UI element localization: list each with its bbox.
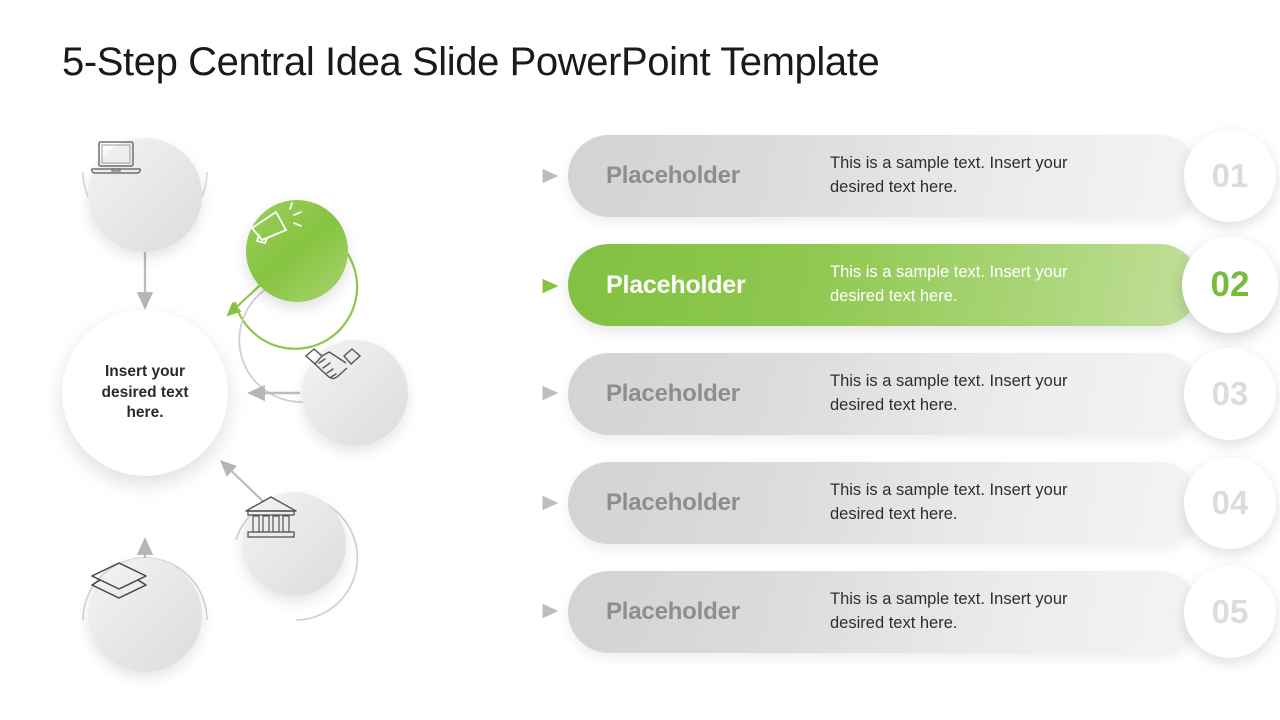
diagram-node-handshake[interactable]	[302, 340, 408, 446]
step-bar[interactable]: Placeholder This is a sample text. Inser…	[568, 353, 1200, 435]
step-row-03[interactable]: Placeholder This is a sample text. Inser…	[568, 353, 1228, 435]
step-description: This is a sample text. Insert your desir…	[830, 479, 1120, 527]
center-node[interactable]: Insert your desired text here.	[62, 310, 228, 476]
center-node-text: Insert your desired text here.	[85, 362, 205, 425]
page-title: 5-Step Central Idea Slide PowerPoint Tem…	[62, 40, 879, 85]
diagram-node-laptop[interactable]	[88, 138, 202, 252]
step-number-badge: 05	[1184, 566, 1276, 658]
step-description: This is a sample text. Insert your desir…	[830, 261, 1120, 309]
step-label: Placeholder	[606, 271, 746, 300]
step-bar[interactable]: Placeholder This is a sample text. Inser…	[568, 244, 1200, 326]
step-bar[interactable]: Placeholder This is a sample text. Inser…	[568, 462, 1200, 544]
central-idea-diagram: Insert your desired text here.	[0, 110, 560, 680]
diagram-node-layers[interactable]	[88, 558, 202, 672]
step-description: This is a sample text. Insert your desir…	[830, 152, 1120, 200]
step-label: Placeholder	[606, 380, 740, 408]
diagram-node-megaphone[interactable]	[246, 200, 348, 302]
step-number-badge: 03	[1184, 348, 1276, 440]
step-row-04[interactable]: Placeholder This is a sample text. Inser…	[568, 462, 1228, 544]
step-description: This is a sample text. Insert your desir…	[830, 588, 1120, 636]
step-number-badge: 02	[1182, 237, 1278, 333]
step-list: Placeholder This is a sample text. Inser…	[568, 135, 1228, 680]
step-label: Placeholder	[606, 489, 740, 517]
step-number-badge: 04	[1184, 457, 1276, 549]
step-description: This is a sample text. Insert your desir…	[830, 370, 1120, 418]
step-row-02[interactable]: Placeholder This is a sample text. Inser…	[568, 244, 1228, 326]
step-bar[interactable]: Placeholder This is a sample text. Inser…	[568, 571, 1200, 653]
step-number-badge: 01	[1184, 130, 1276, 222]
step-row-01[interactable]: Placeholder This is a sample text. Inser…	[568, 135, 1228, 217]
diagram-node-bank[interactable]	[242, 492, 346, 596]
step-row-05[interactable]: Placeholder This is a sample text. Inser…	[568, 571, 1228, 653]
step-bar[interactable]: Placeholder This is a sample text. Inser…	[568, 135, 1200, 217]
step-label: Placeholder	[606, 162, 740, 190]
step-label: Placeholder	[606, 598, 740, 626]
